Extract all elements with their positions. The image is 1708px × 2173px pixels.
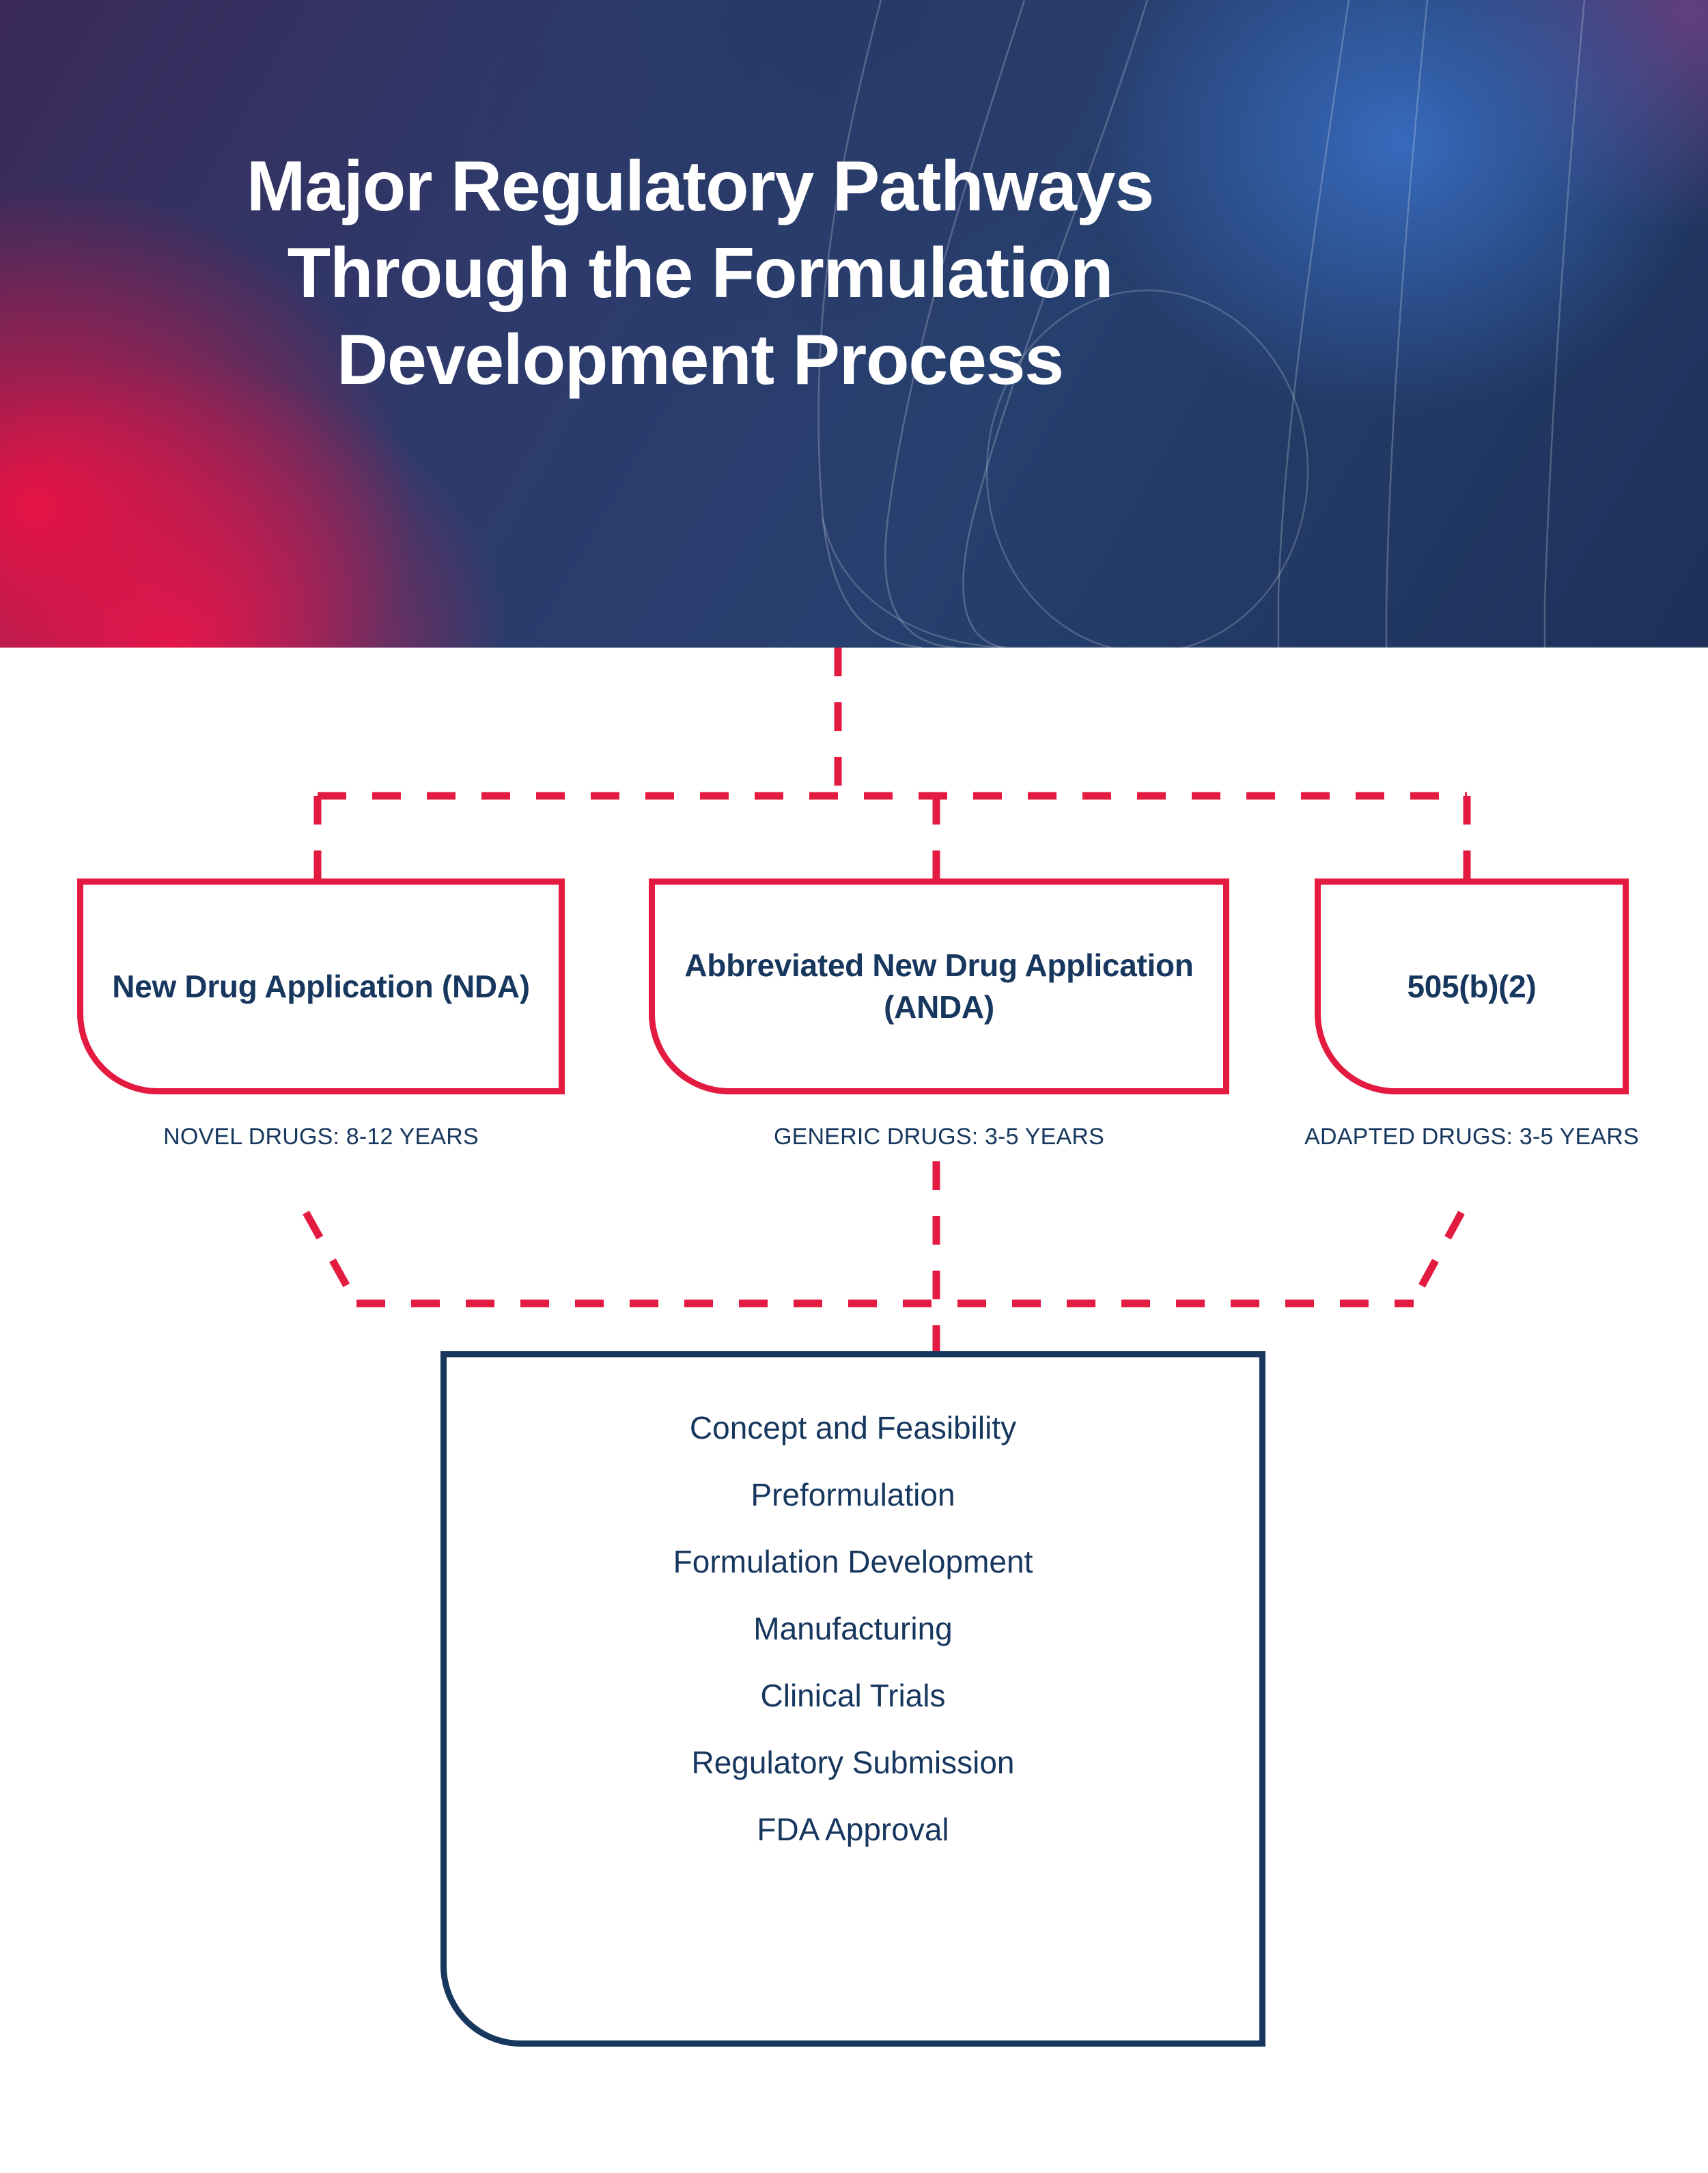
page-title-line-1: Major Regulatory Pathways bbox=[0, 143, 1400, 230]
process-step: FDA Approval bbox=[447, 1814, 1259, 1845]
formulation-process-box: Concept and Feasibility Preformulation F… bbox=[440, 1351, 1265, 2047]
process-step: Manufacturing bbox=[447, 1613, 1259, 1644]
pathway-label-anda: Abbreviated New Drug Application (ANDA) bbox=[655, 945, 1223, 1027]
header-banner: Major Regulatory Pathways Through the Fo… bbox=[0, 0, 1708, 648]
pathway-box-nda[interactable]: New Drug Application (NDA) bbox=[77, 878, 565, 1094]
pathway-caption-nda: NOVEL DRUGS: 8-12 YEARS bbox=[77, 1122, 565, 1152]
pathway-box-anda[interactable]: Abbreviated New Drug Application (ANDA) bbox=[649, 878, 1229, 1094]
pathway-label-nda: New Drug Application (NDA) bbox=[97, 966, 544, 1008]
connector-riser-right bbox=[1412, 1213, 1461, 1303]
connector-riser-left bbox=[306, 1213, 356, 1303]
pathway-label-505b2: 505(b)(2) bbox=[1392, 966, 1551, 1008]
process-step: Clinical Trials bbox=[447, 1680, 1259, 1711]
page-title-line-3: Development Process bbox=[0, 317, 1400, 404]
process-step: Concept and Feasibility bbox=[447, 1412, 1259, 1443]
pathway-caption-anda: GENERIC DRUGS: 3-5 YEARS bbox=[649, 1122, 1229, 1152]
process-step: Regulatory Submission bbox=[447, 1747, 1259, 1778]
process-step: Formulation Development bbox=[447, 1546, 1259, 1577]
process-step: Preformulation bbox=[447, 1479, 1259, 1510]
page-title: Major Regulatory Pathways Through the Fo… bbox=[0, 143, 1400, 404]
page-title-line-2: Through the Formulation bbox=[0, 230, 1400, 317]
pathway-box-505b2[interactable]: 505(b)(2) bbox=[1315, 878, 1629, 1094]
pathway-caption-505b2: ADAPTED DRUGS: 3-5 YEARS bbox=[1298, 1122, 1646, 1152]
